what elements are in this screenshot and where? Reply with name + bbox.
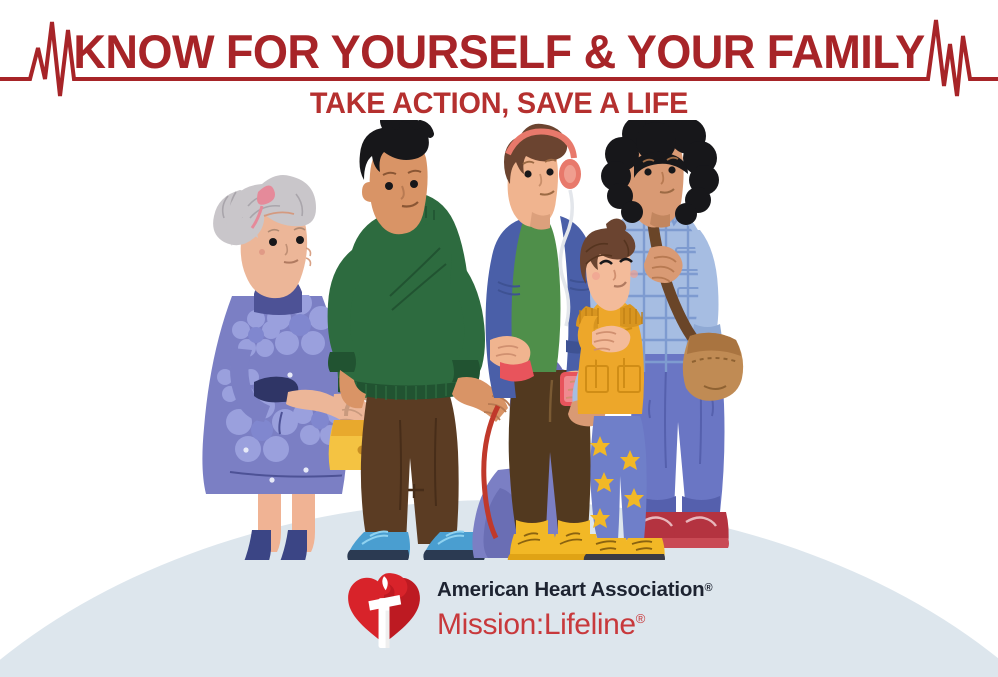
family-illustration (0, 120, 998, 560)
program-name: Mission:Lifeline® (437, 602, 712, 642)
program-name-text: Mission:Lifeline (437, 608, 636, 641)
aha-mission-lifeline-logo: American Heart Association® Mission:Life… (345, 568, 665, 650)
registered-mark-org: ® (704, 582, 712, 594)
poster-canvas: KNOW FOR YOURSELF & YOUR FAMILY TAKE ACT… (0, 0, 998, 677)
organization-name: American Heart Association® (437, 576, 712, 602)
header-band: KNOW FOR YOURSELF & YOUR FAMILY TAKE ACT… (0, 0, 998, 132)
organization-name-text: American Heart Association (437, 578, 704, 601)
page-subtitle: TAKE ACTION, SAVE A LIFE (20, 86, 978, 122)
page-title: KNOW FOR YOURSELF & YOUR FAMILY (20, 25, 978, 79)
registered-mark-program: ® (636, 611, 645, 626)
aha-heart-torch-icon (345, 570, 423, 648)
logo-wordmark: American Heart Association® Mission:Life… (437, 576, 712, 642)
